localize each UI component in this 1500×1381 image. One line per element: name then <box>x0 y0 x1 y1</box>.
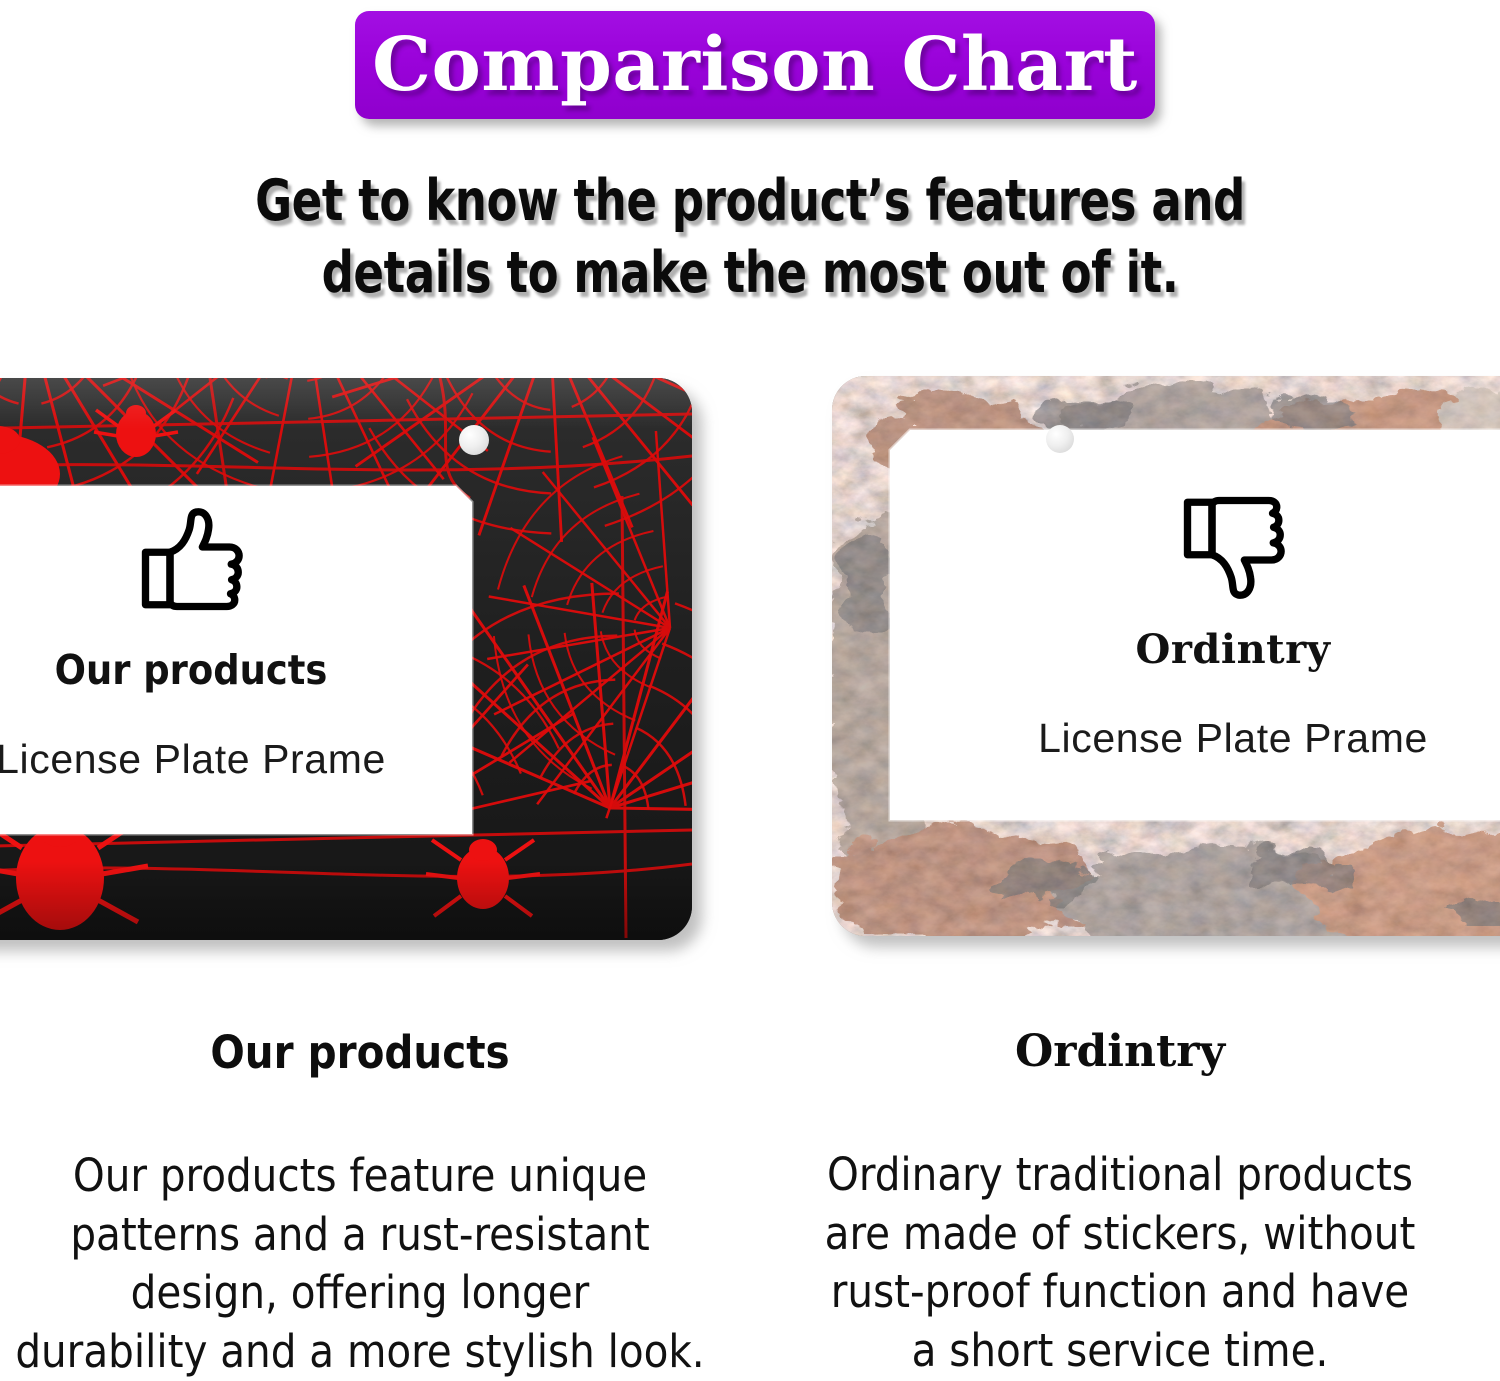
subtitle-line-1: Get to know the product’s features and <box>90 166 1410 238</box>
column-body-ordinary: Ordinary traditional products are made o… <box>760 1146 1480 1380</box>
body-line: Our products feature unique <box>0 1147 720 1206</box>
comparison-column-ours: Our products Our products feature unique… <box>0 1030 720 1381</box>
body-line: rust-proof function and have <box>760 1263 1480 1322</box>
title-badge: Comparison Chart <box>355 11 1155 119</box>
plate-window-content-ours: Our products License Plate Prame <box>0 490 472 783</box>
subtitle: Get to know the product’s features and d… <box>90 166 1410 310</box>
plate-window-content-ordinary: Ordintry License Plate Prame <box>890 434 1500 762</box>
body-line: design, offering longer <box>0 1264 720 1323</box>
product-frame-ordinary: Ordintry License Plate Prame <box>832 376 1500 936</box>
page-title: Comparison Chart <box>372 28 1138 102</box>
body-line: patterns and a rust-resistant <box>0 1206 720 1265</box>
thumbs-up-icon <box>135 506 247 616</box>
plate-subtitle-ordinary: License Plate Prame <box>890 715 1500 762</box>
product-frame-ours: Our products License Plate Prame <box>0 378 692 940</box>
subtitle-line-2: details to make the most out of it. <box>90 238 1410 310</box>
plate-title-ours: Our products <box>0 646 472 694</box>
body-line: a short service time. <box>760 1322 1480 1381</box>
column-heading-ordinary: Ordintry <box>760 1030 1480 1074</box>
body-line: durability and a more stylish look. <box>0 1323 720 1381</box>
body-line: are made of stickers, without <box>760 1205 1480 1264</box>
plate-subtitle-ours: License Plate Prame <box>0 736 472 783</box>
plate-title-ordinary: Ordintry <box>890 626 1500 673</box>
thumbs-down-icon <box>1177 490 1289 602</box>
column-heading-ours: Our products <box>0 1030 720 1075</box>
mounting-hole <box>459 425 489 455</box>
column-body-ours: Our products feature unique patterns and… <box>0 1147 720 1381</box>
body-line: Ordinary traditional products <box>760 1146 1480 1205</box>
comparison-column-ordinary: Ordintry Ordinary traditional products a… <box>760 1030 1480 1380</box>
